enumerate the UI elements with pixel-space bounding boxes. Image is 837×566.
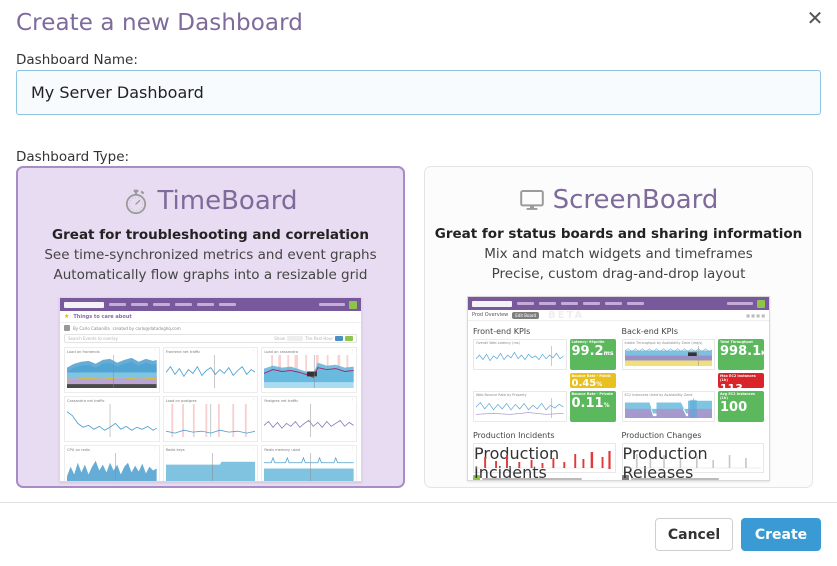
preview-board-meta: By Carlo Cabanilla created by carlo@data… [60, 323, 361, 333]
create-dashboard-dialog: ✕ Create a new Dashboard Dashboard Name:… [0, 0, 837, 566]
preview-search-bar: Search Events to overlay Show The Past H… [64, 334, 357, 343]
section-heading: Back-end KPIs [622, 327, 765, 336]
preview-panel: CPU on redis⋮ [64, 445, 160, 482]
cancel-button[interactable]: Cancel [655, 518, 733, 551]
screenboard-header: ScreenBoard [519, 183, 719, 217]
preview-event-stream: Production Incidents [473, 443, 616, 473]
preview-board-title: ★ Things to care about [60, 311, 361, 323]
timeboard-line-2: Automatically flow graphs into a resizab… [53, 267, 367, 283]
beta-watermark: BETA [548, 310, 584, 321]
preview-panel: Cassandra net traffic⋮ [64, 396, 160, 442]
dashboard-name-label: Dashboard Name: [16, 52, 138, 68]
timeboard-tagline: Great for troubleshooting and correlatio… [52, 227, 369, 243]
kpi-tile: Avg EC2 Instances (1h) 100 [718, 391, 764, 422]
footer-divider [0, 502, 837, 503]
preview-panel: Frontend net traffic⋮ [163, 347, 259, 393]
screenboard-title: ScreenBoard [553, 185, 719, 215]
page-title: Create a new Dashboard [16, 10, 303, 36]
kpi-tile: Bounce Rate - Public 0.45% [570, 373, 616, 388]
timeboard-line-1: See time-synchronized metrics and event … [44, 247, 376, 263]
screenboard-line-1: Mix and match widgets and timeframes [484, 246, 752, 262]
preview-graph: Overall Web Latency (ms) [473, 339, 567, 370]
screenboard-line-2: Precise, custom drag-and-drop layout [492, 266, 746, 282]
dashboard-name-input[interactable] [16, 70, 821, 115]
dashboard-type-timeboard[interactable]: TimeBoard Great for troubleshooting and … [16, 166, 405, 488]
dashboard-type-options: TimeBoard Great for troubleshooting and … [16, 166, 821, 488]
preview-panel: Postgres net traffic⋮ [261, 396, 357, 442]
dashboard-type-label: Dashboard Type: [16, 149, 129, 165]
preview-panel: Load on cassandra⋮ [261, 347, 357, 393]
preview-panel: Load on postgres⋮ [163, 396, 259, 442]
kpi-tile: Bounce Rate - Private 0.11% [570, 391, 616, 422]
preview-panel: Load on frontends⋮ [64, 347, 160, 393]
preview-navbar [468, 297, 769, 310]
preview-panel: Redis memory used⋮ [261, 445, 357, 482]
close-icon[interactable]: ✕ [801, 4, 829, 32]
preview-panel: Redis keys⋮ [163, 445, 259, 482]
kpi-tile: Latency: 95pctile 99.2ms [570, 339, 616, 370]
dialog-footer: Cancel Create [655, 518, 821, 551]
section-heading: Production Incidents [473, 431, 616, 440]
kpi-tile: Max EC2 Instances (1h) 113 [718, 373, 764, 388]
section-heading: Front-end KPIs [473, 327, 616, 336]
monitor-icon [519, 188, 545, 212]
preview-graph: Intake Throughput by Availability Zone (… [622, 339, 716, 370]
section-heading: Production Changes [622, 431, 765, 440]
timeboard-header: TimeBoard [123, 184, 297, 218]
screenboard-preview-image: Prod Overview Edit Board BETA ■ ■ ■ ■ Fr… [467, 296, 770, 481]
kpi-tile: Total Throughput 998.1K [718, 339, 764, 370]
create-button[interactable]: Create [741, 518, 821, 551]
preview-graph: Web Bounce Rate by Property [473, 391, 567, 422]
timeboard-title: TimeBoard [157, 186, 297, 216]
screenboard-tagline: Great for status boards and sharing info… [435, 226, 802, 242]
preview-board-tab: Prod Overview Edit Board BETA ■ ■ ■ ■ [468, 310, 769, 321]
preview-navbar [60, 298, 361, 311]
preview-event-stream: Production Releases [622, 443, 765, 473]
timeboard-preview-image: ★ Things to care about By Carlo Cabanill… [59, 297, 362, 482]
stopwatch-icon [123, 187, 149, 215]
preview-graph-grid: Load on frontends⋮ Frontend net traffic⋮ [60, 344, 361, 482]
preview-graph: EC2 Instances Used by Availability Zone [622, 391, 716, 422]
dashboard-type-screenboard[interactable]: ScreenBoard Great for status boards and … [424, 166, 813, 488]
